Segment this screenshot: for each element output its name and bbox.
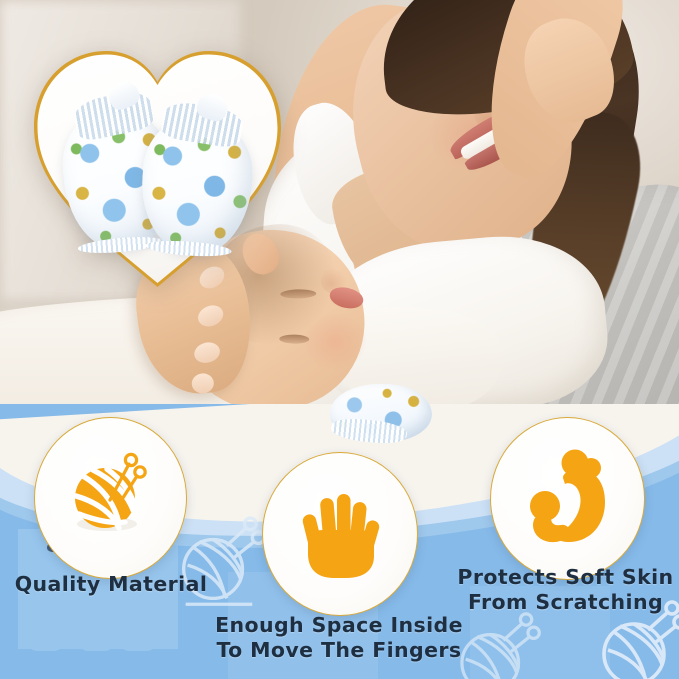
caption-protects-soft-skin: Protects Soft Skin From Scratching: [452, 565, 679, 615]
feature-badge-protects-soft-skin[interactable]: [490, 417, 645, 580]
yarn-ball-with-knitting-needles-icon: [63, 448, 159, 548]
caption-line: To Move The Fingers: [200, 638, 478, 663]
caption-quality-material: Quality Material: [6, 572, 216, 597]
caption-line: Quality Material: [6, 572, 216, 597]
mitten-pair: [64, 87, 256, 255]
caption-line: Enough Space Inside: [200, 613, 478, 638]
fingertip: [192, 340, 222, 366]
caption-line: From Scratching: [452, 590, 679, 615]
worn-baby-mitten: [330, 380, 432, 446]
mother-and-baby-icon: [519, 448, 617, 550]
feature-badge-quality-material[interactable]: [34, 417, 187, 579]
caption-line: Protects Soft Skin: [452, 565, 679, 590]
fingertip: [195, 302, 227, 331]
open-hand-icon: [294, 484, 386, 584]
caption-enough-space: Enough Space Inside To Move The Fingers: [200, 613, 478, 663]
fingertip: [191, 372, 215, 394]
feature-badge-enough-space[interactable]: [262, 452, 418, 616]
product-infographic-poster: Quality Material Enough Space Inside To …: [0, 0, 679, 679]
product-heart-inset: [30, 35, 285, 290]
mitten-right: [137, 113, 256, 256]
